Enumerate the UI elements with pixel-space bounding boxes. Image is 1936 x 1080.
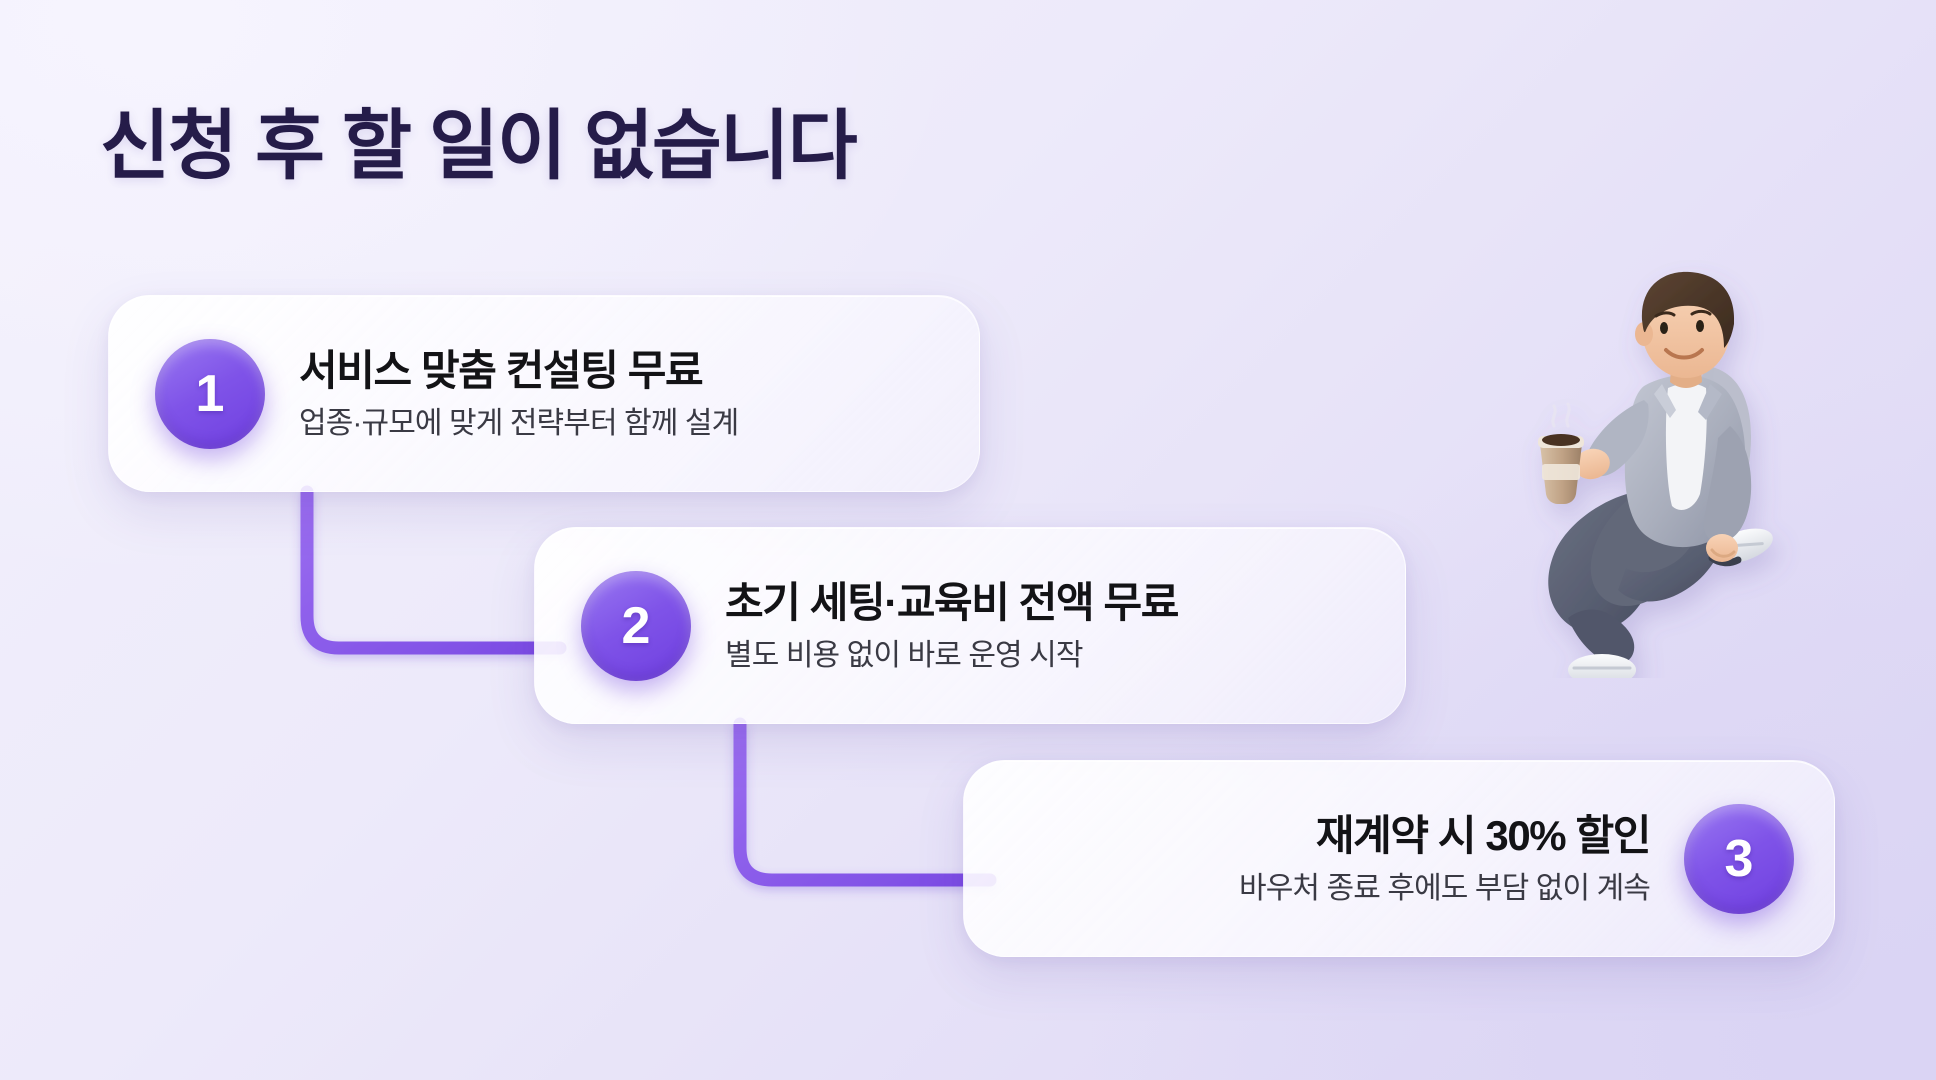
- cup-sleeve: [1542, 464, 1580, 480]
- step-title-1: 서비스 맞춤 컨설팅 무료: [299, 345, 738, 396]
- step-number-3: 3: [1725, 829, 1754, 889]
- step-card-2[interactable]: 2 초기 세팅·교육비 전액 무료 별도 비용 없이 바로 운영 시작: [534, 527, 1406, 724]
- step-title-3: 재계약 시 30% 할인: [1239, 810, 1650, 861]
- step-subtitle-1: 업종·규모에 맞게 전략부터 함께 설계: [299, 405, 738, 443]
- steam-2: [1567, 404, 1569, 426]
- step-number-2: 2: [622, 596, 651, 656]
- slide-root: 신청 후 할 일이 없습니다 1 서비스 맞춤 컨설팅 무료 업종·규모에 맞게…: [0, 0, 1936, 1080]
- person-sitting-with-coffee-illustration: [1494, 258, 1810, 678]
- steam-1: [1553, 406, 1555, 426]
- step-card-body-1: 서비스 맞춤 컨설팅 무료 업종·규모에 맞게 전략부터 함께 설계: [265, 345, 738, 443]
- step-number-badge-2: 2: [581, 571, 691, 681]
- coffee-surface: [1542, 434, 1580, 446]
- eye-right: [1696, 320, 1704, 332]
- step-number-1: 1: [196, 364, 225, 424]
- eye-left: [1660, 322, 1668, 334]
- connector-2-to-3: [740, 724, 990, 880]
- connector-1-to-2: [307, 492, 560, 648]
- figure-group: [1538, 272, 1777, 678]
- page-title: 신청 후 할 일이 없습니다: [100, 84, 856, 194]
- right-hand: [1706, 534, 1738, 562]
- step-title-2: 초기 세팅·교육비 전액 무료: [725, 577, 1178, 628]
- step-card-3[interactable]: 3 재계약 시 30% 할인 바우처 종료 후에도 부담 없이 계속: [963, 760, 1835, 957]
- step-number-badge-3: 3: [1684, 804, 1794, 914]
- step-number-badge-1: 1: [155, 339, 265, 449]
- step-subtitle-3: 바우처 종료 후에도 부담 없이 계속: [1239, 870, 1650, 908]
- step-card-1[interactable]: 1 서비스 맞춤 컨설팅 무료 업종·규모에 맞게 전략부터 함께 설계: [108, 295, 980, 492]
- step-subtitle-2: 별도 비용 없이 바로 운영 시작: [725, 637, 1178, 675]
- step-card-body-2: 초기 세팅·교육비 전액 무료 별도 비용 없이 바로 운영 시작: [691, 577, 1178, 675]
- step-card-body-3: 재계약 시 30% 할인 바우처 종료 후에도 부담 없이 계속: [1239, 810, 1684, 908]
